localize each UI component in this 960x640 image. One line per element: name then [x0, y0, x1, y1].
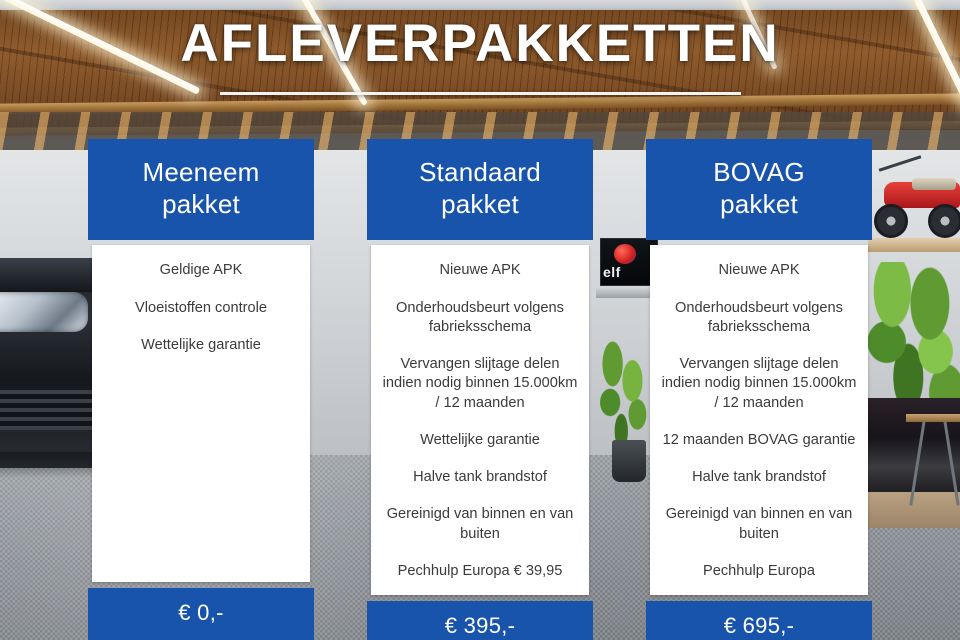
package-header: Meeneem pakket	[88, 139, 314, 240]
package-card-meeneem[interactable]: Meeneem pakket Geldige APK Vloeistoffen …	[88, 139, 314, 640]
page-title: AFLEVERPAKKETTEN	[0, 16, 960, 72]
title-divider	[220, 92, 741, 95]
feature-item: Vloeistoffen controle	[100, 299, 302, 318]
feature-item: Nieuwe APK	[658, 261, 860, 280]
package-name-line2: pakket	[98, 189, 304, 221]
feature-item: Halve tank brandstof	[379, 468, 581, 487]
motorcycle-wheel	[874, 204, 908, 238]
package-header: Standaard pakket	[367, 139, 593, 240]
motorcycle-wheel	[928, 204, 960, 238]
package-price[interactable]: € 695,-	[646, 601, 872, 640]
feature-item: Geldige APK	[100, 261, 302, 280]
package-features: Nieuwe APK Onderhoudsbeurt volgens fabri…	[650, 245, 868, 595]
feature-item: Gereinigd van binnen en van buiten	[658, 505, 860, 544]
pricing-page: elf AFLEVERPAKKETTEN Meeneem pakket Gel	[0, 0, 960, 640]
feature-item: Halve tank brandstof	[658, 468, 860, 487]
feature-item: Onderhoudsbeurt volgens fabrieksschema	[379, 299, 581, 338]
package-features: Nieuwe APK Onderhoudsbeurt volgens fabri…	[371, 245, 589, 595]
feature-item: Pechhulp Europa	[658, 562, 860, 581]
package-features: Geldige APK Vloeistoffen controle Wettel…	[92, 245, 310, 582]
feature-item: Onderhoudsbeurt volgens fabrieksschema	[658, 299, 860, 338]
package-header: BOVAG pakket	[646, 139, 872, 240]
feature-item: 12 maanden BOVAG garantie	[658, 431, 860, 450]
package-card-bovag[interactable]: BOVAG pakket Nieuwe APK Onderhoudsbeurt …	[646, 139, 872, 640]
package-price[interactable]: € 395,-	[367, 601, 593, 640]
motorcycle-shelf	[868, 238, 960, 252]
car-headlight	[0, 292, 88, 332]
package-name-line1: Standaard	[377, 157, 583, 189]
package-card-list: Meeneem pakket Geldige APK Vloeistoffen …	[88, 139, 872, 640]
package-name-line1: BOVAG	[656, 157, 862, 189]
feature-item: Wettelijke garantie	[100, 336, 302, 355]
page-title-block: AFLEVERPAKKETTEN	[0, 16, 960, 95]
package-name-line1: Meeneem	[98, 157, 304, 189]
motorcycle-seat	[912, 178, 956, 190]
feature-item: Gereinigd van binnen en van buiten	[379, 505, 581, 544]
feature-item: Vervangen slijtage delen indien nodig bi…	[379, 355, 581, 413]
feature-item: Nieuwe APK	[379, 261, 581, 280]
feature-item: Vervangen slijtage delen indien nodig bi…	[658, 355, 860, 413]
feature-item: Pechhulp Europa € 39,95	[379, 562, 581, 581]
package-card-standaard[interactable]: Standaard pakket Nieuwe APK Onderhoudsbe…	[367, 139, 593, 640]
package-name-line2: pakket	[656, 189, 862, 221]
feature-item: Wettelijke garantie	[379, 431, 581, 450]
package-name-line2: pakket	[377, 189, 583, 221]
stool-top	[906, 414, 960, 422]
package-price[interactable]: € 0,-	[88, 588, 314, 640]
